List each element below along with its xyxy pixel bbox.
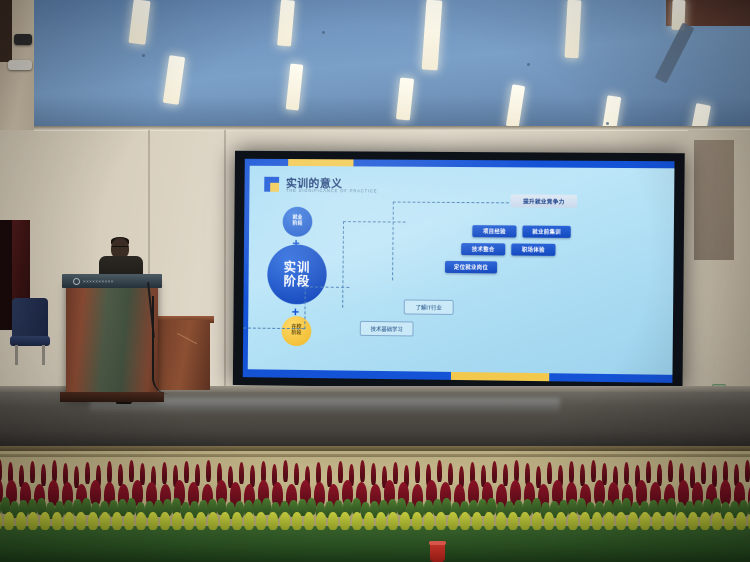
flower-yellow: [520, 512, 530, 530]
skill-box-tech-integration: 技术整合: [461, 243, 505, 255]
flower-spike-red: [371, 463, 376, 485]
flower-yellow: [328, 512, 338, 530]
flower-spike-red: [569, 461, 574, 483]
flower-spike-red: [580, 464, 585, 486]
flower-yellow: [604, 512, 614, 530]
flower-yellow: [700, 512, 710, 530]
security-camera-icon: [14, 34, 32, 45]
flower-yellow: [448, 512, 458, 530]
circle-line-2: 阶段: [292, 222, 302, 228]
flower-yellow: [376, 512, 386, 530]
flower-yellow: [52, 512, 62, 530]
flower-yellow: [196, 512, 206, 530]
flower-yellow: [148, 512, 158, 530]
flower-yellow: [76, 512, 86, 530]
chair-leg: [15, 345, 18, 365]
flower-yellow: [220, 512, 230, 530]
flower-spike-red: [52, 460, 57, 482]
slide-top-accent: [288, 159, 353, 166]
skill-box-pre-employment-training: 就业前集训: [522, 226, 570, 238]
flower-spike-red: [239, 462, 244, 484]
flower-yellow: [136, 512, 146, 530]
flower-yellow: [364, 512, 374, 530]
flower-yellow: [544, 512, 554, 530]
slide-bottom-accent: [451, 372, 549, 381]
flower-spike-red: [701, 462, 706, 484]
screen-surface: 实训的意义 THE SIGNIFICANCE OF PRACTICE 就业 阶段…: [243, 159, 675, 383]
flower-yellow: [688, 512, 698, 530]
flower-spike-red: [437, 460, 442, 482]
flower-yellow: [532, 512, 542, 530]
flower-yellow: [4, 512, 14, 530]
flower-yellow: [712, 512, 722, 530]
podium: [66, 280, 158, 398]
flower-spike-red: [492, 461, 497, 483]
flower-spike-red: [745, 460, 750, 482]
flower-yellow: [244, 512, 254, 530]
chair-back: [12, 298, 48, 338]
flower-yellow: [400, 512, 410, 530]
flower-yellow: [424, 512, 434, 530]
stage-circle-employment: 就业 阶段: [283, 207, 313, 237]
flower-spike-red: [184, 461, 189, 483]
flower-yellow: [340, 512, 350, 530]
flower-spike-red: [107, 461, 112, 483]
flower-yellow: [88, 512, 98, 530]
flower-yellow: [40, 512, 50, 530]
flower-yellow: [268, 512, 278, 530]
flower-yellow: [184, 512, 194, 530]
flower-yellow: [496, 512, 506, 530]
flower-yellow: [100, 512, 110, 530]
flower-yellow: [388, 512, 398, 530]
flower-spike-red: [668, 460, 673, 482]
ceiling-corner-dark: [0, 0, 12, 62]
red-cup-rim: [429, 541, 446, 545]
flower-spike-red: [294, 463, 299, 485]
flower-yellow: [256, 512, 266, 530]
flower-yellow: [160, 512, 170, 530]
wall-cornice: [34, 126, 750, 131]
stage-chair: [12, 298, 48, 362]
flower-spike-red: [360, 460, 365, 482]
flower-yellow: [172, 512, 182, 530]
flower-yellow: [436, 512, 446, 530]
flower-yellow: [652, 512, 662, 530]
flower-spike-red: [283, 460, 288, 482]
foundation-box-it-industry: 了解IT行业: [404, 299, 454, 315]
outcome-box-competitiveness: 提升就业竞争力: [511, 194, 577, 208]
wall-shadow-right: [694, 140, 734, 260]
institution-seal-icon: [73, 278, 80, 285]
flower-yellow: [736, 512, 746, 530]
flower-spike-red: [206, 460, 211, 482]
flower-yellow: [124, 512, 134, 530]
flower-yellow: [460, 512, 470, 530]
flower-yellow: [508, 512, 518, 530]
podium-nameplate: ××××××××××: [70, 277, 157, 286]
flower-spike-red: [624, 462, 629, 484]
flower-yellow: [112, 512, 122, 530]
flower-yellow: [568, 512, 578, 530]
flower-yellow: [628, 512, 638, 530]
flower-spike-red: [41, 464, 46, 486]
podium-base: [60, 392, 164, 402]
flower-yellow: [664, 512, 674, 530]
flower-yellow: [580, 512, 590, 530]
auditorium-photo: 实训的意义 THE SIGNIFICANCE OF PRACTICE 就业 阶段…: [0, 0, 750, 562]
flower-planter: [0, 446, 750, 562]
flower-yellow: [412, 512, 422, 530]
skill-box-project-experience: 项目经验: [472, 225, 516, 237]
speaker-glasses-icon: [112, 246, 128, 251]
flower-yellow: [724, 512, 734, 530]
flower-spike-red: [338, 461, 343, 483]
skill-box-job-positioning: 定位就业岗位: [445, 261, 497, 273]
flower-yellow: [64, 512, 74, 530]
flower-spike-red: [646, 461, 651, 483]
chair-leg: [42, 345, 45, 365]
flower-yellow: [592, 512, 602, 530]
flower-spike-red: [0, 459, 2, 481]
ceiling-fixture-dot: [322, 31, 325, 34]
flower-yellow: [472, 512, 482, 530]
flower-spike-red: [415, 461, 420, 483]
projection-screen: 实训的意义 THE SIGNIFICANCE OF PRACTICE 就业 阶段…: [233, 151, 685, 391]
circle-line-1: 实训: [284, 260, 311, 274]
planter-rail-second: [0, 454, 750, 457]
flower-spike-red: [162, 462, 167, 484]
flower-yellow: [316, 512, 326, 530]
wall-seam: [224, 130, 226, 420]
flower-spike-red: [316, 462, 321, 484]
side-cabinet-shadow: [0, 220, 12, 330]
slide-logo-icon: [264, 177, 279, 192]
flower-yellow: [676, 512, 686, 530]
flower-yellow: [640, 512, 650, 530]
flower-spike-red: [85, 462, 90, 484]
flower-spike-red: [30, 461, 35, 483]
flower-spike-red: [514, 460, 519, 482]
flower-yellow: [292, 512, 302, 530]
microphone-cable: [152, 296, 168, 394]
slide-subtitle: THE SIGNIFICANCE OF PRACTICE: [286, 188, 378, 194]
podium-sign-text: ××××××××××: [83, 279, 114, 284]
flower-spike-red: [448, 463, 453, 485]
skill-box-workplace-experience: 职场体验: [511, 243, 555, 255]
planter-grass: [0, 526, 750, 562]
red-cup: [430, 542, 445, 562]
flower-spike-red: [118, 464, 123, 486]
speaker-box-icon: [8, 60, 32, 70]
foundation-box-tech-basics: 技术基础学习: [360, 321, 414, 337]
flower-yellow: [232, 512, 242, 530]
presentation-slide: 实训的意义 THE SIGNIFICANCE OF PRACTICE 就业 阶段…: [243, 159, 675, 383]
flower-yellow: [352, 512, 362, 530]
dashed-bracket-lower: [304, 286, 349, 329]
planter-rail-top: [0, 446, 750, 451]
ceiling-fixture-dot: [142, 54, 145, 57]
flower-yellow: [280, 512, 290, 530]
flower-yellow: [28, 512, 38, 530]
flower-yellow: [304, 512, 314, 530]
flower-spike-red: [393, 462, 398, 484]
dashed-line-bottom: [243, 328, 304, 330]
flower-yellow: [208, 512, 218, 530]
flower-yellow: [616, 512, 626, 530]
flower-spike-red: [503, 464, 508, 486]
flower-spike-red: [547, 462, 552, 484]
flower-yellow: [16, 512, 26, 530]
flower-spike-red: [591, 460, 596, 482]
ceiling-fixture-dot: [606, 122, 609, 125]
slide-left-accent: [243, 159, 250, 377]
flower-yellow: [484, 512, 494, 530]
ceiling-fixture-dot: [527, 63, 530, 66]
circle-line-2: 阶段: [291, 331, 301, 337]
flower-spike-red: [129, 460, 134, 482]
dashed-bracket-middle: [342, 221, 405, 308]
flower-yellow: [556, 512, 566, 530]
